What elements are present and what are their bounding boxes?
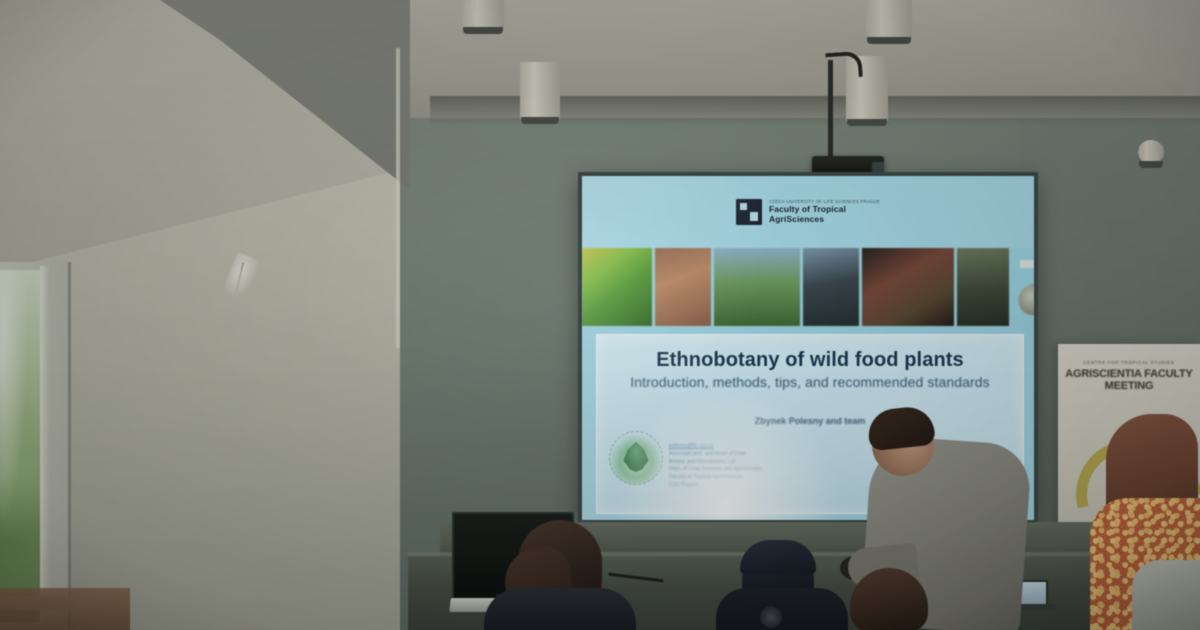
- projector-mount-pole: [828, 60, 833, 168]
- collage-photo-person-portrait: [803, 248, 859, 326]
- banner-title: AGRISCIENTIA FACULTY MEETING: [1062, 368, 1196, 393]
- lecture-room-photo: CZECH UNIVERSITY OF LIFE SCIENCES PRAGUE…: [0, 0, 1200, 630]
- window-glass: [0, 270, 40, 622]
- collage-photo-market-greens: [582, 248, 652, 326]
- slide-author-email: polesny@ftz.czu.cz: [669, 443, 714, 449]
- slide-authors: Zbynek Polesny and team: [597, 416, 1023, 426]
- faculty-name: CZECH UNIVERSITY OF LIFE SCIENCES PRAGUE…: [769, 200, 880, 225]
- slide-affiliation-block: polesny@ftz.czu.cz Associate prof. and H…: [669, 443, 849, 490]
- audience-member-2-shoulders: [716, 588, 848, 630]
- audience-member-5: [1132, 560, 1200, 630]
- slide-affiliation-line-4: Faculty of Tropical AgriSciences: [669, 474, 743, 480]
- collage-plate-1: [1018, 284, 1034, 316]
- banner-kicker: CENTRE FOR TROPICAL STUDIES: [1058, 360, 1200, 365]
- slide-affiliation-line-2: Botany and Ethnobotany Lab: [669, 459, 736, 465]
- pendant-light-3: [866, 0, 912, 40]
- side-table: [0, 588, 130, 630]
- audience-member-1-shoulders: [484, 588, 636, 630]
- collage-highlight-bar: [1020, 260, 1034, 268]
- collage-photo-harvest-basket: [655, 248, 711, 326]
- pendant-light-1: [462, 0, 504, 30]
- slide-photo-collage: [582, 248, 1034, 326]
- faculty-kicker: CZECH UNIVERSITY OF LIFE SCIENCES PRAGUE: [769, 200, 880, 205]
- ceiling-sensor: [1138, 140, 1164, 164]
- slide-affiliation-line-1: Associate prof. and Head of Dept.: [669, 451, 747, 457]
- collage-photo-field-landscape: [714, 248, 800, 326]
- window-with-foliage: [0, 262, 71, 630]
- slide-affiliation-line-3: Dept. of Crop Sciences and Agroforestry: [669, 466, 762, 472]
- slide-header-band: CZECH UNIVERSITY OF LIFE SCIENCES PRAGUE…: [582, 176, 1034, 248]
- slide-subtitle: Introduction, methods, tips, and recomme…: [597, 374, 1023, 390]
- slide-title: Ethnobotany of wild food plants: [597, 349, 1023, 372]
- ethnobotany-leaf-emblem: [609, 431, 663, 485]
- audience-member-2-jacket-logo: [760, 606, 782, 628]
- slide-affiliation-line-5: CZU Prague: [669, 482, 698, 488]
- faculty-line-1: Faculty of Tropical: [769, 204, 846, 214]
- pendant-light-2: [520, 62, 560, 120]
- collage-photo-cooking-preparation: [862, 248, 954, 326]
- window-mullion: [40, 266, 49, 626]
- faculty-line-2: AgriSciences: [769, 214, 824, 224]
- faculty-crest-logo: [736, 199, 762, 225]
- soffit-edge-trim: [396, 48, 400, 348]
- collage-photo-village-scene: [957, 248, 1009, 326]
